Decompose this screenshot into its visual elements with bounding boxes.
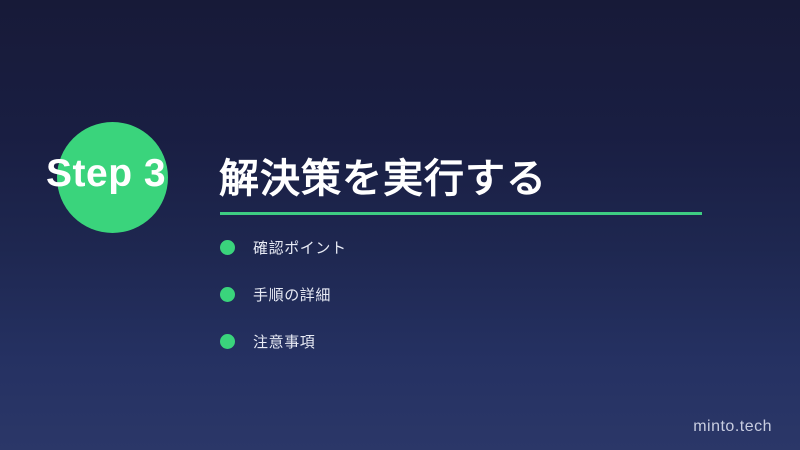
bullet-dot-icon <box>220 240 235 255</box>
list-item-label: 手順の詳細 <box>253 284 331 305</box>
bullet-dot-icon <box>220 334 235 349</box>
list-item: 手順の詳細 <box>220 286 700 303</box>
list-item: 注意事項 <box>220 333 700 350</box>
bullet-list: 確認ポイント 手順の詳細 注意事項 <box>220 239 700 350</box>
list-item-label: 注意事項 <box>253 331 315 352</box>
title-divider <box>220 212 702 215</box>
slide-title: 解決策を実行する <box>219 146 547 204</box>
slide-canvas: Step 3 解決策を実行する 確認ポイント 手順の詳細 注意事項 minto.… <box>0 0 800 450</box>
step-badge-label: Step 3 <box>46 151 206 197</box>
bullet-dot-icon <box>220 287 235 302</box>
list-item-label: 確認ポイント <box>253 237 347 258</box>
footer-brand: minto.tech <box>693 418 772 436</box>
list-item: 確認ポイント <box>220 239 700 256</box>
